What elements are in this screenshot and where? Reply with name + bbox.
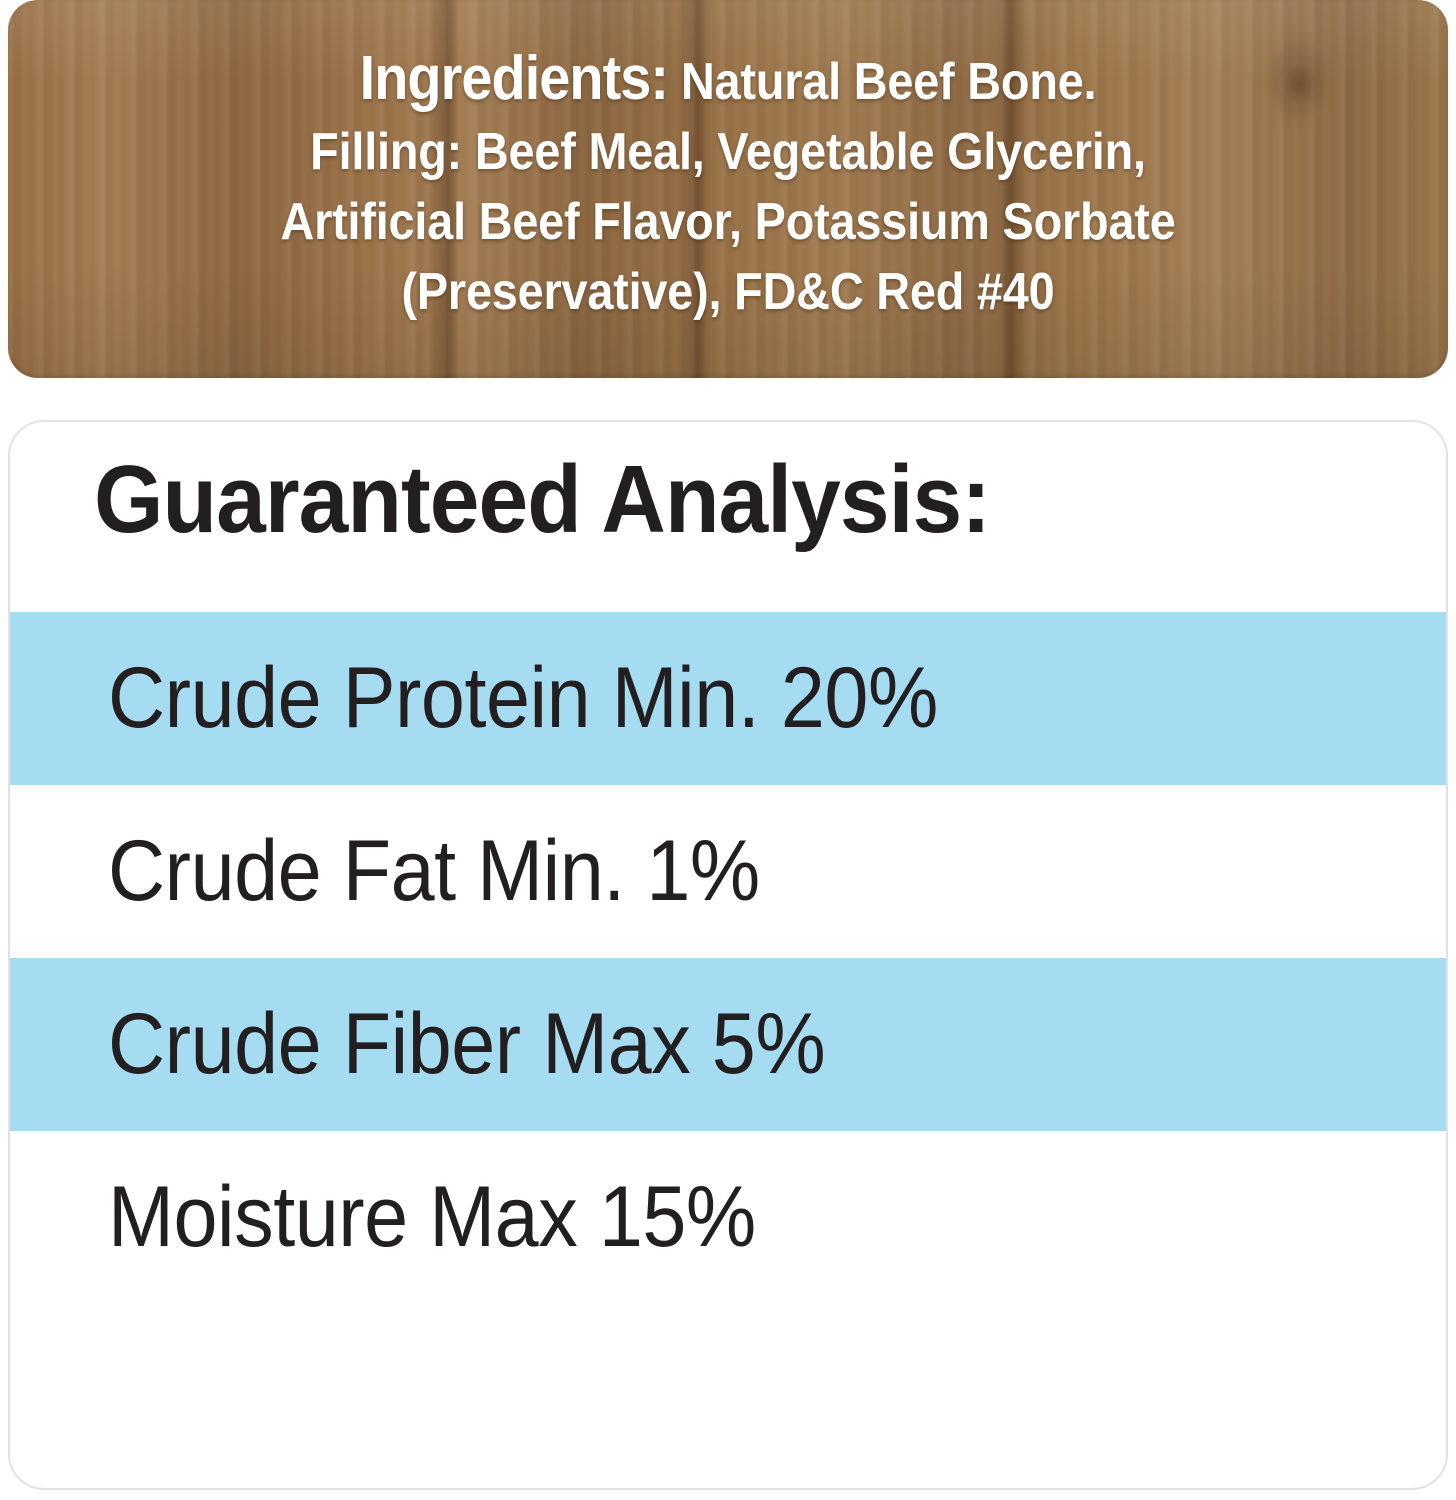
guaranteed-analysis-rows: Crude Protein Min. 20% Crude Fat Min. 1%… [10,612,1446,1304]
ingredients-line-1-rest: Natural Beef Bone. [668,53,1096,111]
analysis-row-label: Crude Fat Min. 1% [108,822,760,921]
ingredients-line-4: (Preservative), FD&C Red #40 [80,257,1376,327]
analysis-row-moisture: Moisture Max 15% [10,1131,1446,1304]
ingredients-panel: Ingredients: Natural Beef Bone. Filling:… [8,0,1448,378]
analysis-row-crude-fiber: Crude Fiber Max 5% [10,958,1446,1131]
ingredients-text-block: Ingredients: Natural Beef Bone. Filling:… [80,44,1376,327]
analysis-row-crude-protein: Crude Protein Min. 20% [10,612,1446,785]
product-label-page: Ingredients: Natural Beef Bone. Filling:… [0,0,1456,1500]
ingredients-line-3: Artificial Beef Flavor, Potassium Sorbat… [80,187,1376,257]
guaranteed-analysis-card: Guaranteed Analysis: Crude Protein Min. … [8,420,1448,1490]
ingredients-label: Ingredients: [360,44,669,113]
guaranteed-analysis-heading: Guaranteed Analysis: [94,440,990,560]
analysis-row-label: Moisture Max 15% [108,1168,756,1267]
ingredients-line-2: Filling: Beef Meal, Vegetable Glycerin, [80,117,1376,187]
analysis-row-label: Crude Fiber Max 5% [108,995,825,1094]
ingredients-line-1: Ingredients: Natural Beef Bone. [80,44,1376,117]
analysis-row-crude-fat: Crude Fat Min. 1% [10,785,1446,958]
analysis-row-label: Crude Protein Min. 20% [108,649,938,748]
